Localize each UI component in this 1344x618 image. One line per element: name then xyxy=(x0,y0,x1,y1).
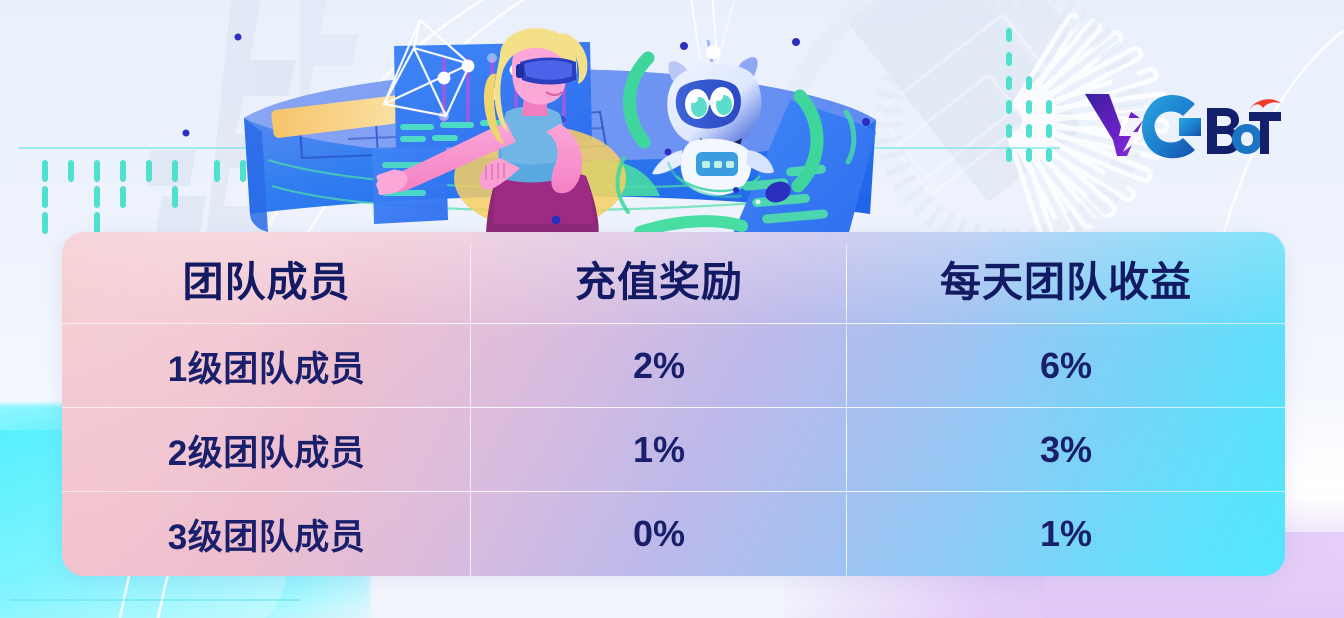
team-rewards-table: 团队成员 充值奖励 每天团队收益 1级团队成员 2% 6% 2级团队成员 1% … xyxy=(62,232,1285,576)
vcbot-logo xyxy=(1083,88,1283,160)
table-row: 2级团队成员 1% 3% xyxy=(62,408,1285,492)
robot-mascot xyxy=(652,0,774,197)
header-cell-member: 团队成员 xyxy=(62,232,471,324)
cell-member-level-3: 3级团队成员 xyxy=(62,492,471,576)
table-row: 1级团队成员 2% 6% xyxy=(62,324,1285,408)
poster-canvas: 团队成员 充值奖励 每天团队收益 1级团队成员 2% 6% 2级团队成员 1% … xyxy=(0,0,1344,618)
cell-daily-income-level-2: 3% xyxy=(847,408,1285,492)
header-cell-recharge-bonus: 充值奖励 xyxy=(471,232,847,324)
table-body: 团队成员 充值奖励 每天团队收益 1级团队成员 2% 6% 2级团队成员 1% … xyxy=(62,232,1285,576)
cell-member-level-2: 2级团队成员 xyxy=(62,408,471,492)
logo-letter-o xyxy=(1232,124,1262,154)
cell-member-level-1: 1级团队成员 xyxy=(62,324,471,408)
cell-recharge-bonus-level-1: 2% xyxy=(471,324,847,408)
header-cell-daily-team-income: 每天团队收益 xyxy=(847,232,1285,324)
table-header-row: 团队成员 充值奖励 每天团队收益 xyxy=(62,232,1285,324)
vcbot-logo-mark xyxy=(1083,88,1283,160)
cell-recharge-bonus-level-3: 0% xyxy=(471,492,847,576)
cell-daily-income-level-3: 1% xyxy=(847,492,1285,576)
cell-recharge-bonus-level-2: 1% xyxy=(471,408,847,492)
logo-red-accent xyxy=(1249,99,1281,110)
table-row: 3级团队成员 0% 1% xyxy=(62,492,1285,576)
cell-daily-income-level-1: 6% xyxy=(847,324,1285,408)
